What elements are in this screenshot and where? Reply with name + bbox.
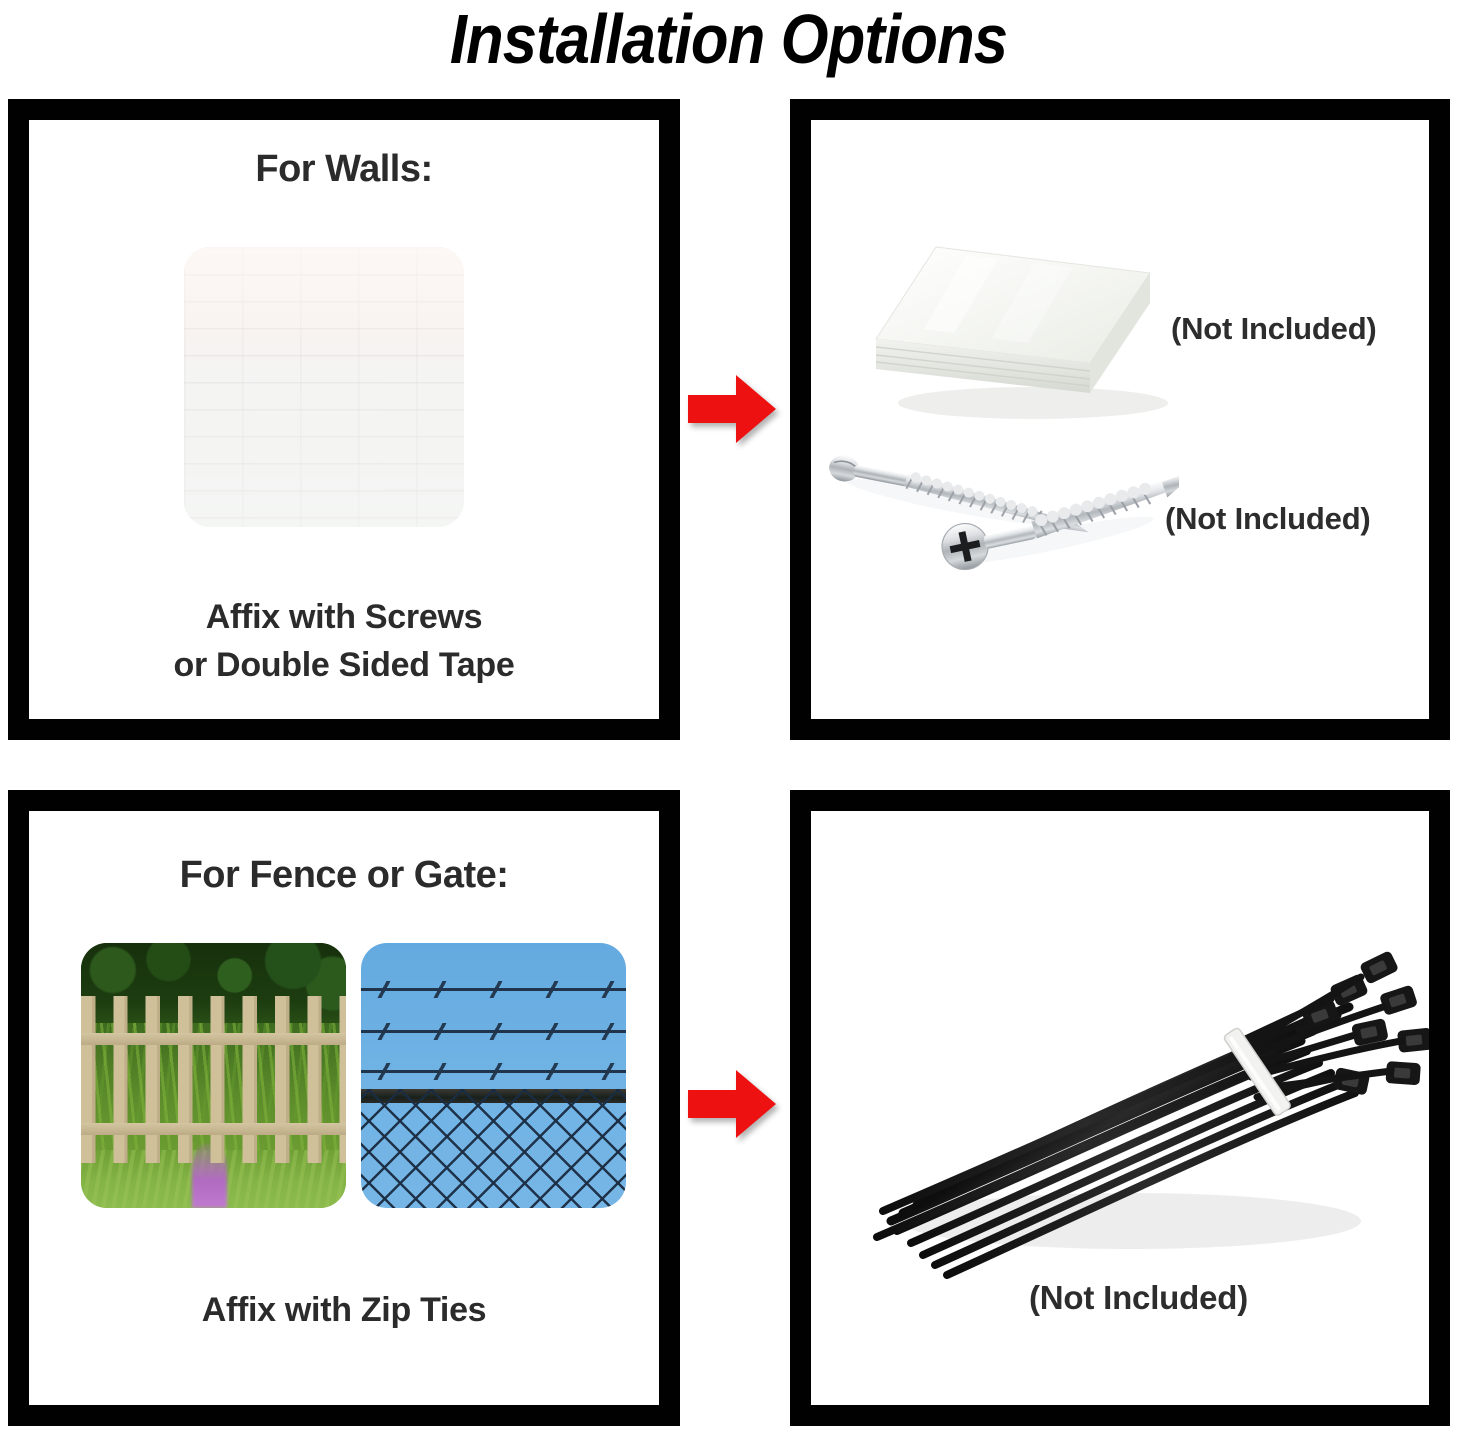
for-fence-heading: For Fence or Gate: — [29, 854, 659, 897]
wooden-picket-fence-photo — [81, 943, 346, 1208]
panel-for-fence-or-gate: For Fence or Gate: — [8, 790, 680, 1426]
installation-options-infographic: Installation Options For Walls: Affix wi… — [0, 0, 1457, 1434]
walls-caption-line2: or Double Sided Tape — [29, 641, 659, 689]
double-sided-tape-stack — [858, 235, 1173, 425]
panel-for-walls: For Walls: Affix with Screws or Double S… — [8, 99, 680, 740]
right-arrow-icon-top — [688, 373, 776, 445]
tape-not-included-note: (Not Included) — [1171, 311, 1377, 347]
screws-not-included-note: (Not Included) — [1165, 501, 1371, 537]
page-title: Installation Options — [87, 0, 1369, 84]
black-zip-ties-bundle — [831, 891, 1429, 1291]
wood-screws — [819, 438, 1179, 618]
panel-wall-hardware: (Not Included) — [790, 99, 1450, 740]
walls-caption-line1: Affix with Screws — [29, 593, 659, 641]
chain-link-barbed-wire-fence-photo — [361, 943, 626, 1208]
right-arrow-icon-bottom — [688, 1068, 776, 1140]
white-brick-wall-photo — [184, 247, 464, 527]
fence-caption-line1: Affix with Zip Ties — [29, 1286, 659, 1334]
zipties-not-included-note: (Not Included) — [1029, 1279, 1248, 1317]
for-walls-heading: For Walls: — [29, 148, 659, 191]
panel-fence-hardware: (Not Included) — [790, 790, 1450, 1426]
